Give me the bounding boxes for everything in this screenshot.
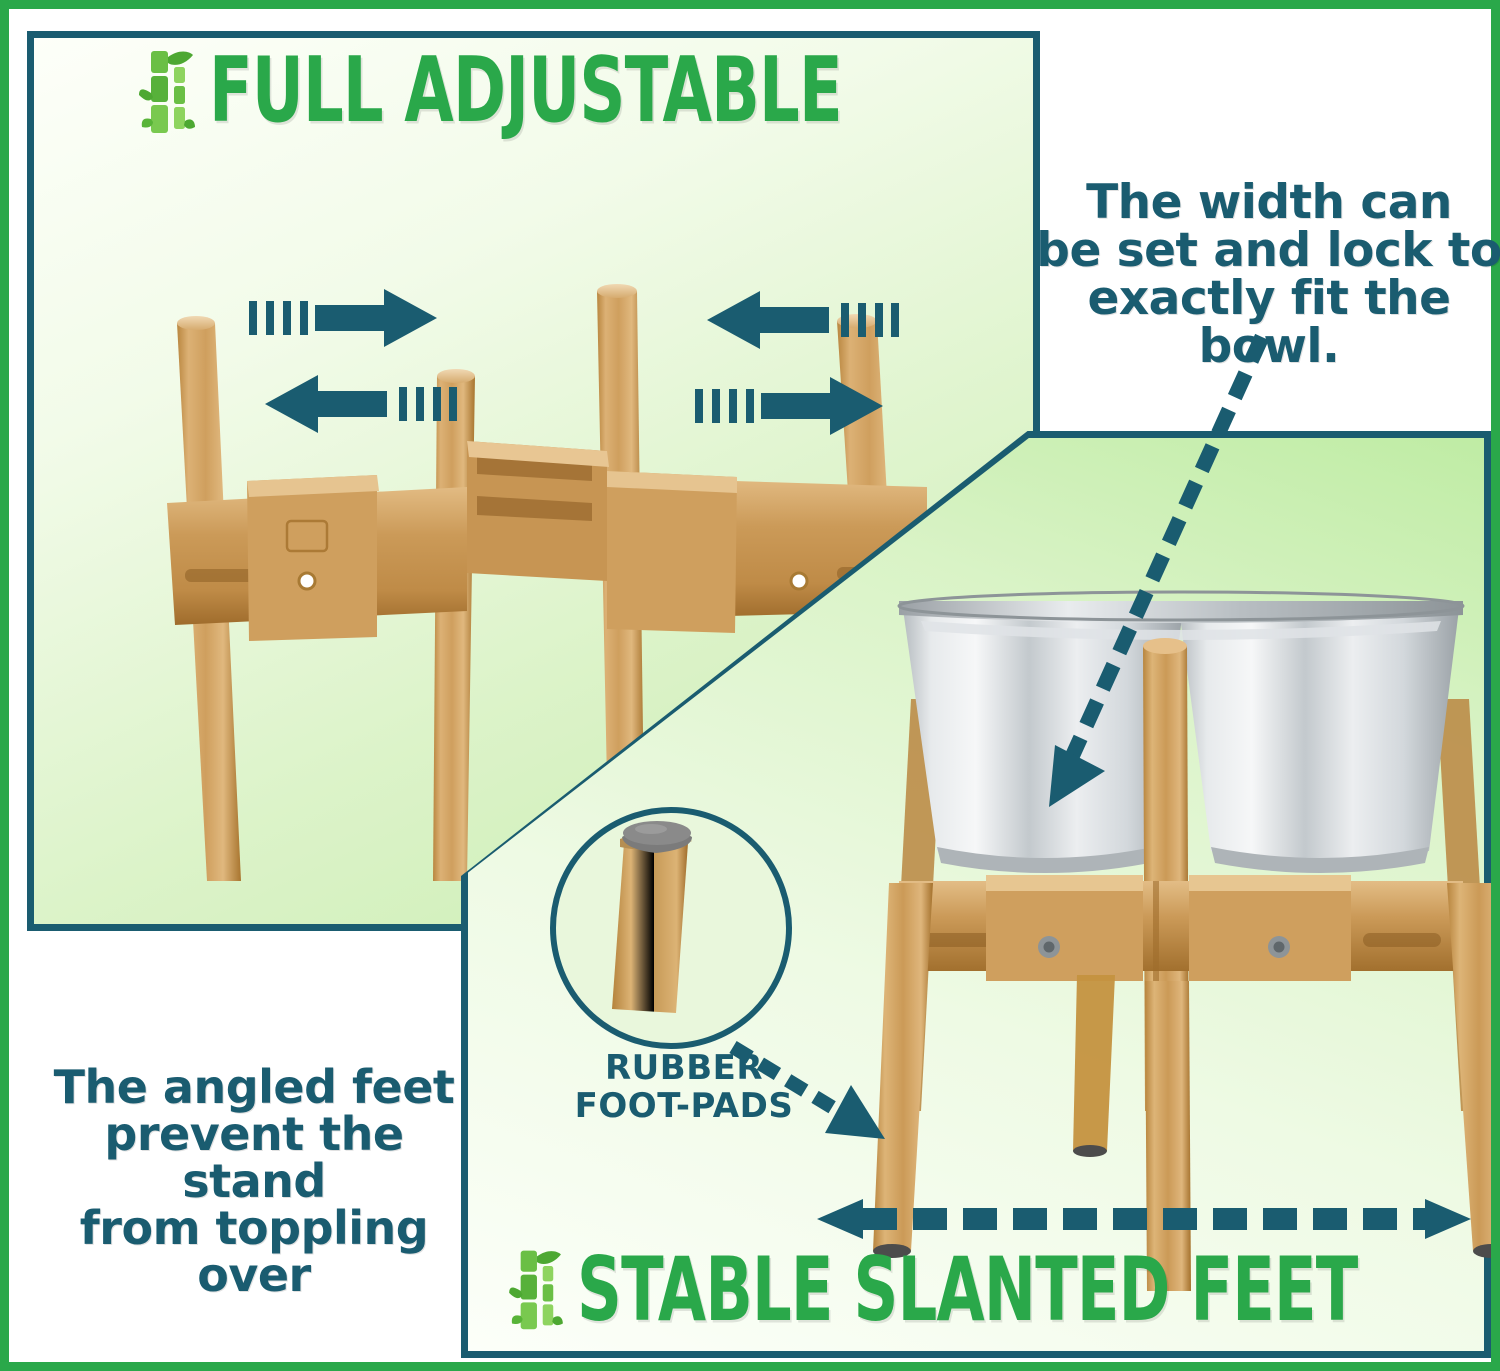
dashed-arrow-to-foot-pad: [727, 1041, 897, 1151]
outer-green-frame: FULL ADJUSTABLE The width can be set and…: [0, 0, 1500, 1371]
caption-line: over: [39, 1252, 469, 1299]
caption-line: from toppling: [39, 1205, 469, 1252]
caption-line: The angled feet: [39, 1064, 469, 1111]
heading-full-adjustable: FULL ADJUSTABLE: [139, 43, 981, 139]
bamboo-icon: [509, 1243, 563, 1335]
arrow-left-pair-bottom: [263, 373, 453, 435]
dashed-arrow-to-lock-screw: [1009, 329, 1289, 819]
arrow-right-pair-bottom: [695, 375, 885, 437]
caption-angled-feet: The angled feet prevent the stand from t…: [39, 1064, 469, 1299]
arrow-right-pair-top: [705, 289, 895, 351]
footpad-magnifier-inset: [546, 803, 796, 1053]
heading-label: FULL ADJUSTABLE: [209, 39, 842, 143]
double-headed-width-arrow: [809, 1191, 1479, 1247]
heading-stable-slanted-feet: STABLE SLANTED FEET: [509, 1243, 1500, 1335]
arrow-left-pair-top: [249, 287, 439, 349]
caption-line: prevent the stand: [39, 1111, 469, 1205]
bamboo-icon: [139, 43, 195, 139]
caption-line: be set and lock to: [1029, 227, 1500, 275]
caption-line: The width can: [1029, 179, 1500, 227]
heading-label: STABLE SLANTED FEET: [577, 1237, 1357, 1340]
